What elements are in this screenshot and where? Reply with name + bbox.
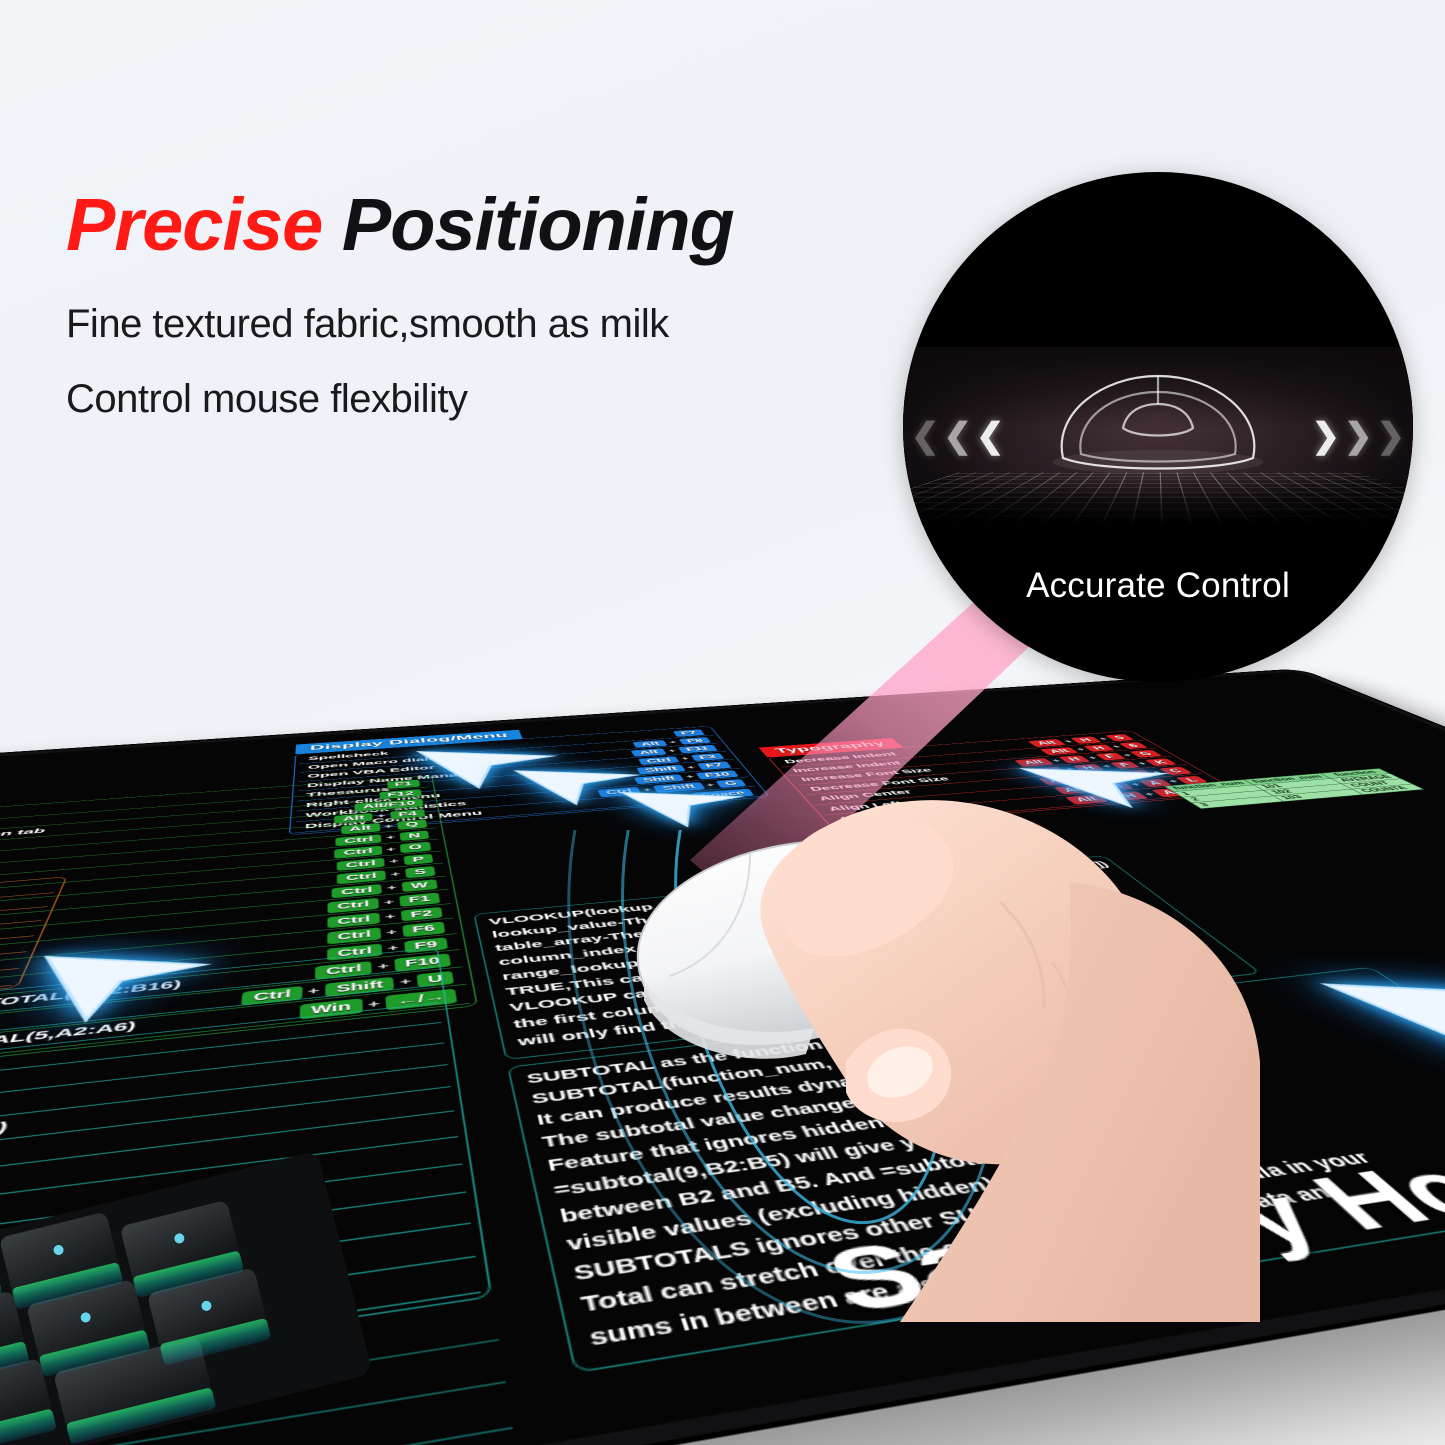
page-title: Precise Positioning: [66, 186, 946, 264]
key-badge: Q: [397, 819, 427, 829]
key-badge: O: [400, 842, 431, 853]
key-badge: Alt: [341, 823, 380, 834]
key-plus-separator: +: [390, 870, 400, 879]
key-badge: Alt: [1028, 739, 1066, 747]
key-badge: F8: [678, 737, 711, 745]
headline-accent-word: Precise: [66, 183, 322, 266]
grid-fade-bottom: [903, 479, 1413, 525]
key-plus-separator: +: [377, 812, 386, 819]
key-plus-separator: +: [668, 740, 679, 745]
subline-fabric: Fine textured fabric,smooth as milk: [66, 302, 946, 347]
key-badge: S: [405, 866, 436, 878]
key-badge: F3: [690, 753, 724, 761]
inset-caption: Accurate Control: [903, 566, 1413, 606]
key-badge: N: [399, 830, 429, 841]
key-badge: Alt: [335, 813, 373, 824]
wireframe-mouse-photo: ❮❮❮ ❯❯❯: [903, 347, 1413, 525]
key-plus-separator: +: [386, 927, 397, 938]
key-badge: F2: [400, 907, 442, 922]
key-badge: W: [401, 879, 437, 892]
headline-block: Precise Positioning Fine textured fabric…: [66, 186, 946, 422]
chevron-left-icons: ❮❮❮: [911, 419, 1005, 453]
key-plus-separator: +: [386, 845, 396, 853]
key-plus-separator: +: [385, 912, 396, 922]
key-plus-separator: +: [389, 857, 399, 865]
key-badge: P: [403, 854, 433, 866]
key-plus-separator: +: [384, 897, 395, 907]
key-plus-separator: +: [386, 834, 396, 842]
key-badge: F4: [390, 809, 426, 819]
key-plus-separator: +: [667, 748, 678, 754]
key-plus-separator: +: [384, 823, 394, 830]
wireframe-mouse-icon: [1023, 362, 1293, 482]
key-plus-separator: +: [387, 883, 398, 892]
hand-holding-mouse: [600, 762, 1260, 1322]
key-badge: Ctrl: [327, 912, 380, 928]
key-badge: Alt: [1040, 747, 1079, 755]
headline-rest-word: Positioning: [342, 183, 734, 266]
key-badge: F1: [399, 893, 440, 907]
key-plus-separator: +: [679, 756, 690, 762]
key-badge: F6: [402, 922, 445, 937]
subline-flexibility: Control mouse flexbility: [66, 377, 946, 422]
key-badge: Ctrl: [327, 927, 381, 944]
accurate-control-inset: ❮❮❮ ❯❯❯ Accurate Control: [903, 172, 1413, 682]
chevron-right-icons: ❯❯❯: [1312, 419, 1406, 453]
